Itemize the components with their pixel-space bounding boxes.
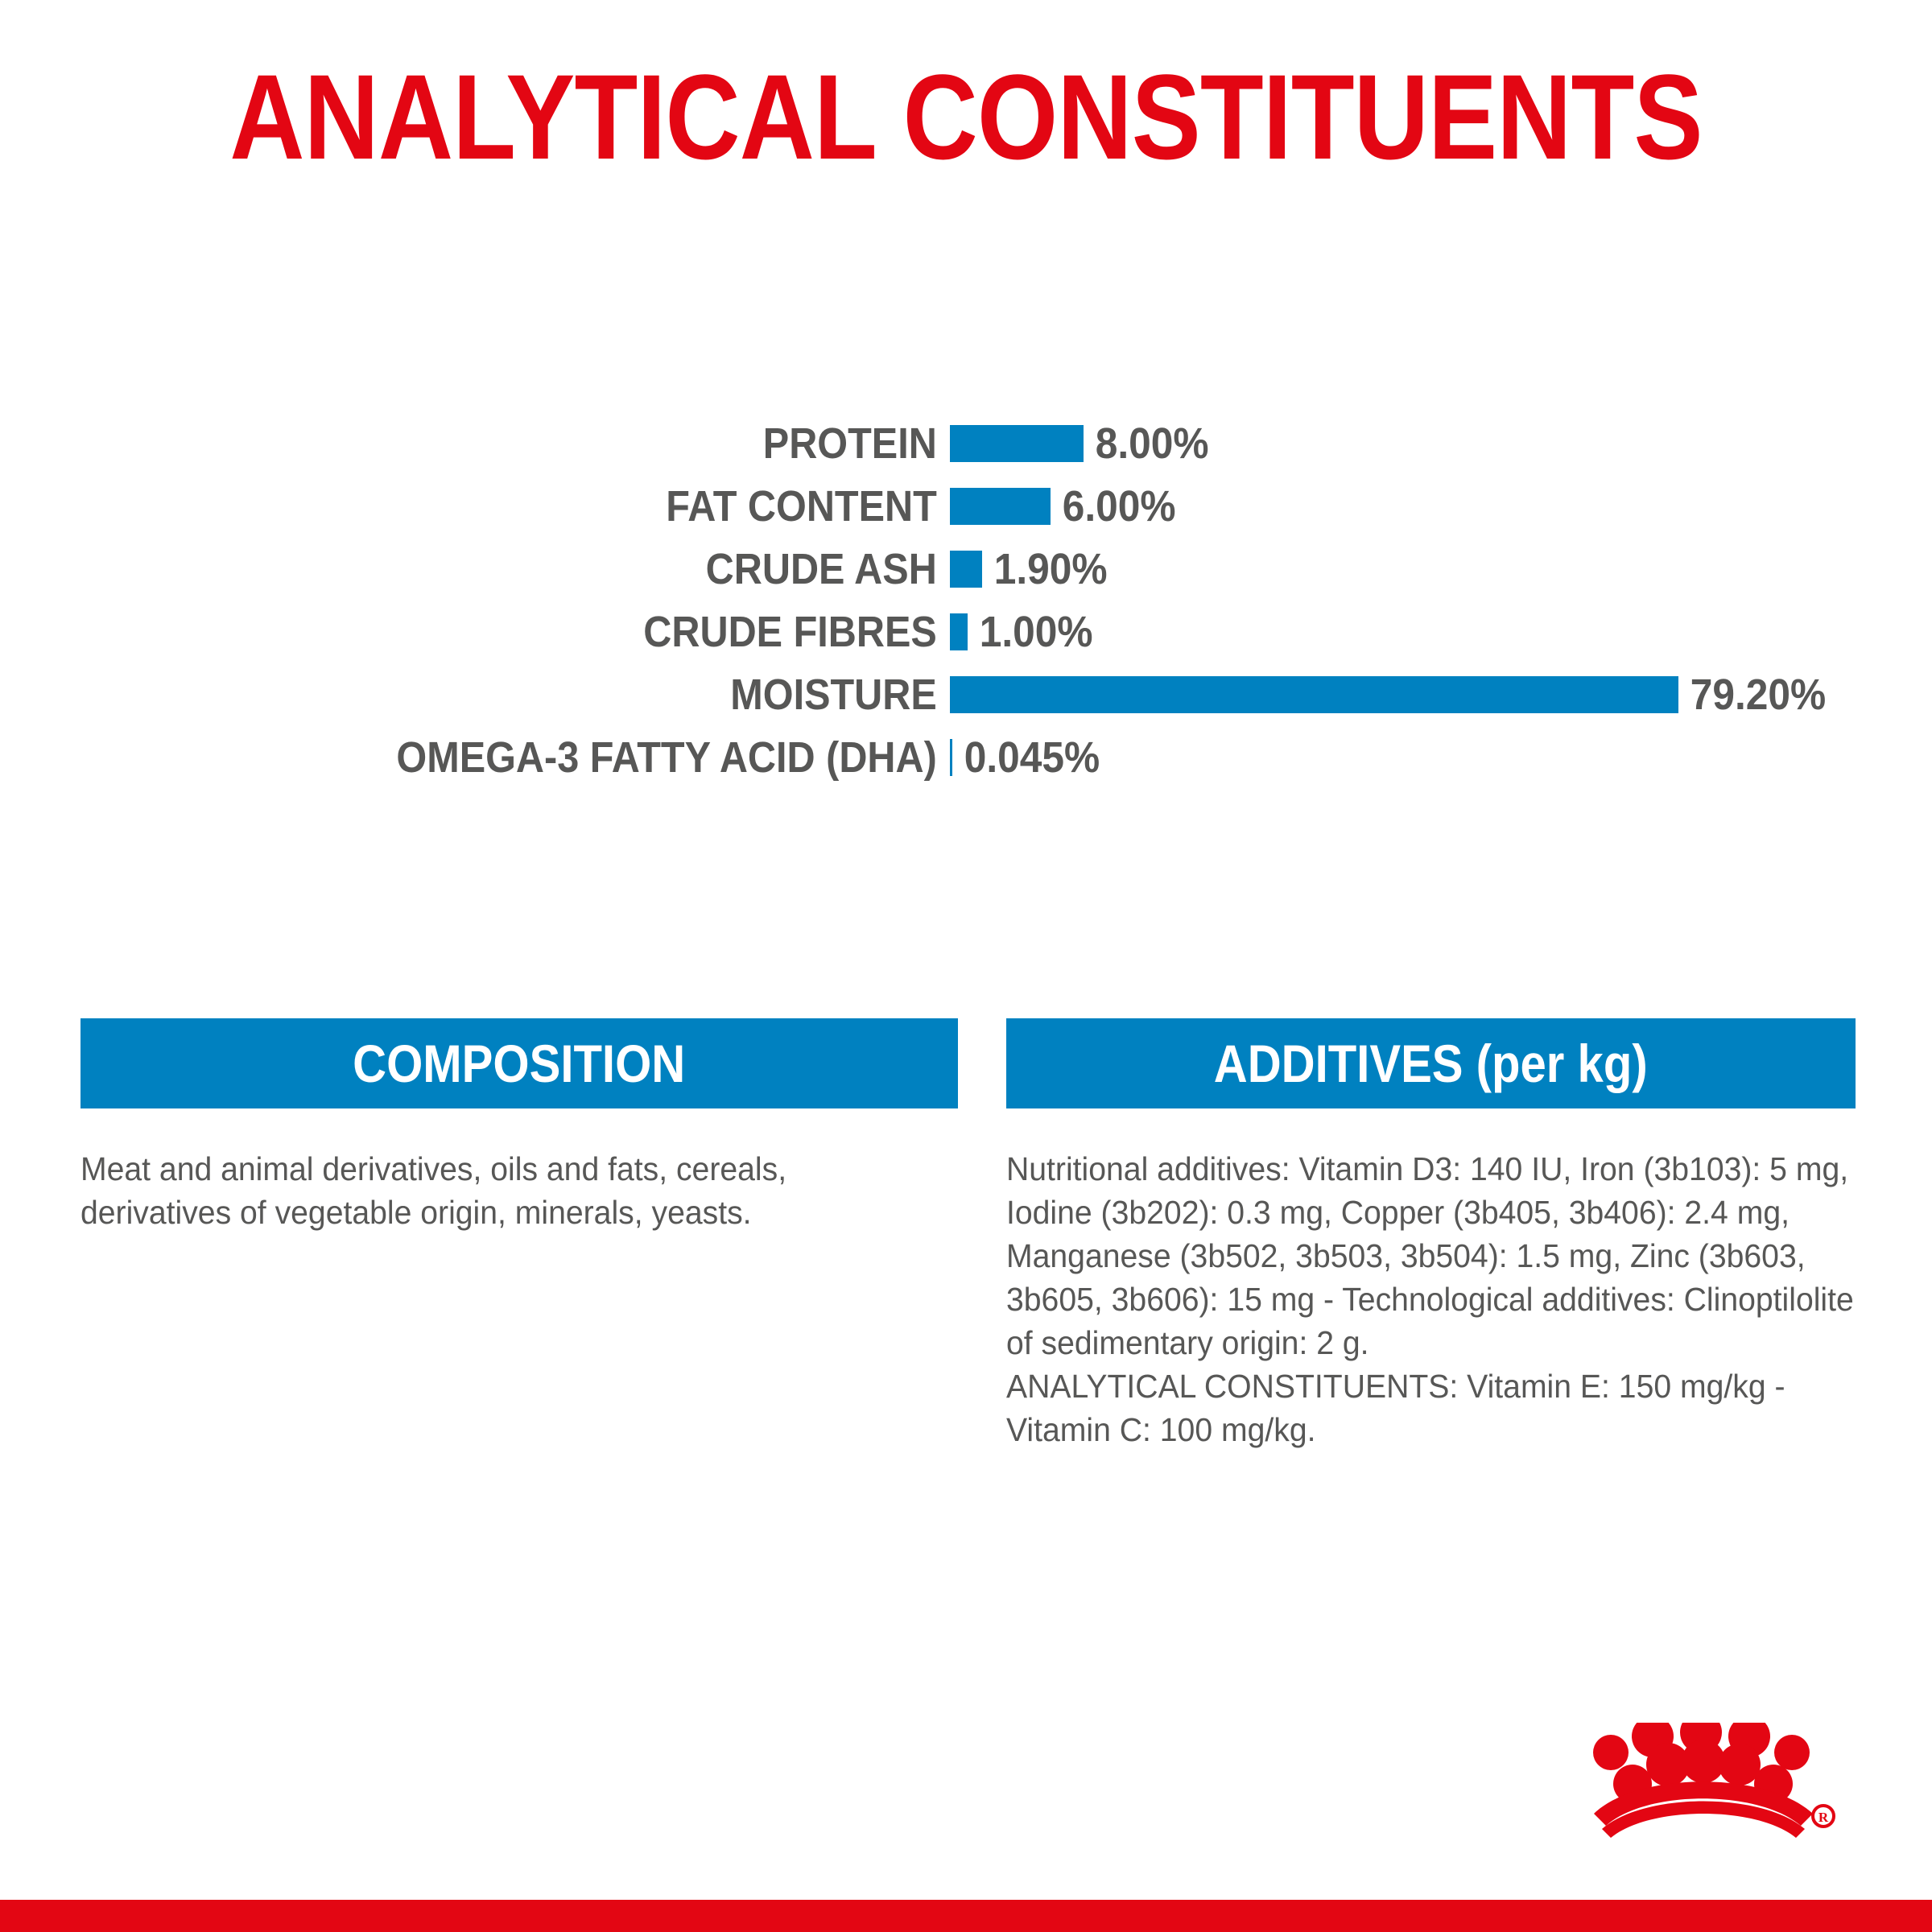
constituent-bar: [950, 676, 1678, 713]
constituent-row: PROTEIN8.00%: [0, 412, 1932, 475]
royal-canin-crown-logo: R: [1582, 1723, 1856, 1884]
composition-panel: COMPOSITION Meat and animal derivatives,…: [80, 1018, 934, 1451]
constituent-row: CRUDE FIBRES1.00%: [0, 601, 1932, 663]
constituent-bar-wrap: 1.90%: [950, 538, 1932, 601]
info-panels: COMPOSITION Meat and animal derivatives,…: [80, 1018, 1860, 1451]
constituent-label: PROTEIN: [95, 421, 950, 466]
composition-header: COMPOSITION: [80, 1018, 958, 1108]
constituent-value: 79.20%: [1678, 672, 1826, 717]
constituent-row: FAT CONTENT6.00%: [0, 475, 1932, 538]
analytical-constituents-chart: PROTEIN8.00%FAT CONTENT6.00%CRUDE ASH1.9…: [0, 412, 1932, 789]
constituent-label: CRUDE FIBRES: [95, 609, 950, 654]
additives-panel: ADDITIVES (per kg) Nutritional additives…: [1006, 1018, 1860, 1451]
constituent-value: 0.045%: [952, 735, 1100, 780]
additives-header: ADDITIVES (per kg): [1006, 1018, 1856, 1108]
constituent-bar: [950, 425, 1084, 462]
constituent-row: OMEGA-3 FATTY ACID (DHA)0.045%: [0, 726, 1932, 789]
constituent-value: 1.00%: [968, 609, 1093, 654]
constituent-label: MOISTURE: [95, 672, 950, 717]
constituent-bar-wrap: 79.20%: [950, 663, 1932, 726]
constituent-bar: [950, 613, 968, 650]
bottom-accent-bar: [0, 1900, 1932, 1932]
page-title: ANALYTICAL CONSTITUENTS: [135, 48, 1797, 185]
constituent-bar-wrap: 8.00%: [950, 412, 1932, 475]
constituent-bar-wrap: 1.00%: [950, 601, 1932, 663]
composition-header-label: COMPOSITION: [353, 1018, 685, 1108]
constituent-value: 1.90%: [982, 547, 1108, 592]
composition-body: Meat and animal derivatives, oils and fa…: [80, 1147, 849, 1234]
constituent-bar-wrap: 6.00%: [950, 475, 1932, 538]
constituent-value: 6.00%: [1051, 484, 1176, 529]
constituent-value: 8.00%: [1084, 421, 1209, 466]
constituent-bar: [950, 551, 982, 588]
constituent-row: CRUDE ASH1.90%: [0, 538, 1932, 601]
svg-text:R: R: [1818, 1810, 1829, 1825]
additives-header-label: ADDITIVES (per kg): [1214, 1018, 1648, 1108]
constituent-bar-wrap: 0.045%: [950, 726, 1932, 789]
constituent-label: CRUDE ASH: [95, 547, 950, 592]
constituent-label: FAT CONTENT: [95, 484, 950, 529]
additives-body: Nutritional additives: Vitamin D3: 140 I…: [1006, 1147, 1860, 1451]
constituent-bar: [950, 488, 1051, 525]
constituent-row: MOISTURE79.20%: [0, 663, 1932, 726]
constituent-label: OMEGA-3 FATTY ACID (DHA): [95, 735, 950, 780]
